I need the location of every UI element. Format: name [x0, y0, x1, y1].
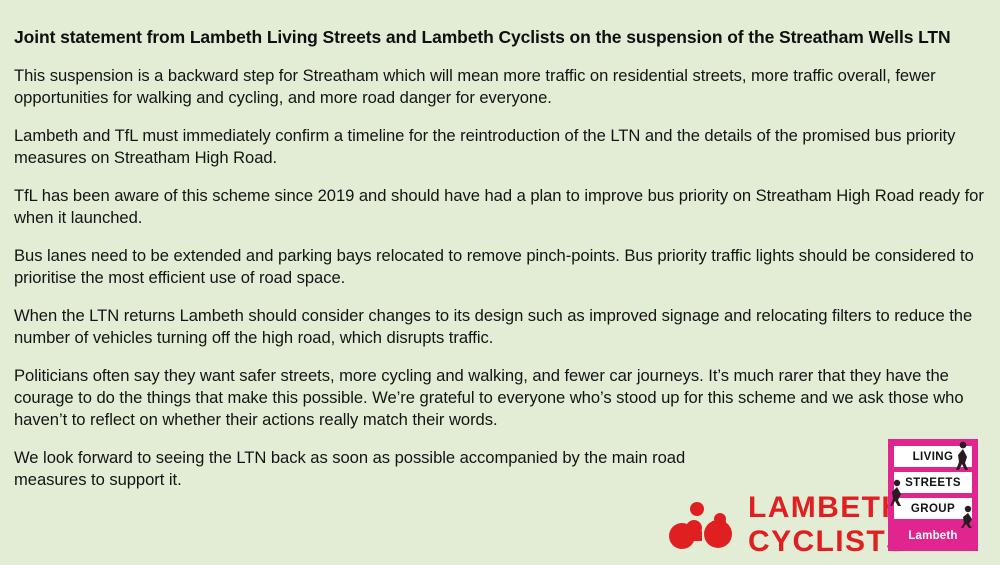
walking-figure-icon [960, 505, 976, 529]
page-title: Joint statement from Lambeth Living Stre… [14, 26, 984, 49]
living-streets-borough-label: Lambeth [908, 530, 957, 542]
walking-figure-icon [955, 441, 972, 471]
living-streets-bar-label: STREETS [905, 477, 961, 489]
statement-paragraph-5: When the LTN returns Lambeth should cons… [14, 305, 984, 349]
statement-paragraph-2: Lambeth and TfL must immediately confirm… [14, 125, 984, 169]
statement-paragraph-1: This suspension is a backward step for S… [14, 65, 984, 109]
joint-statement-card: Joint statement from Lambeth Living Stre… [0, 0, 1000, 565]
living-streets-bar-label: LIVING [913, 451, 954, 463]
walking-figure-icon [889, 479, 905, 507]
living-streets-group-logo[interactable]: LIVING STREETS GROUP Lambeth [888, 439, 978, 551]
lambeth-cyclists-logo[interactable]: LAMBETH CYCLISTS [668, 493, 908, 557]
statement-paragraph-6: Politicians often say they want safer st… [14, 365, 984, 431]
statement-paragraph-3: TfL has been aware of this scheme since … [14, 185, 984, 229]
statement-paragraph-7: We look forward to seeing the LTN back a… [14, 447, 744, 491]
lambeth-cyclists-wordmark: LAMBETH CYCLISTS [748, 493, 908, 557]
living-streets-bar-streets: STREETS [894, 472, 972, 493]
living-streets-bar-label: GROUP [911, 503, 955, 515]
cyclist-mark-icon [668, 501, 734, 549]
lambeth-cyclists-line-2: CYCLISTS [748, 527, 908, 557]
statement-paragraph-4: Bus lanes need to be extended and parkin… [14, 245, 984, 289]
lambeth-cyclists-line-1: LAMBETH [748, 493, 908, 523]
